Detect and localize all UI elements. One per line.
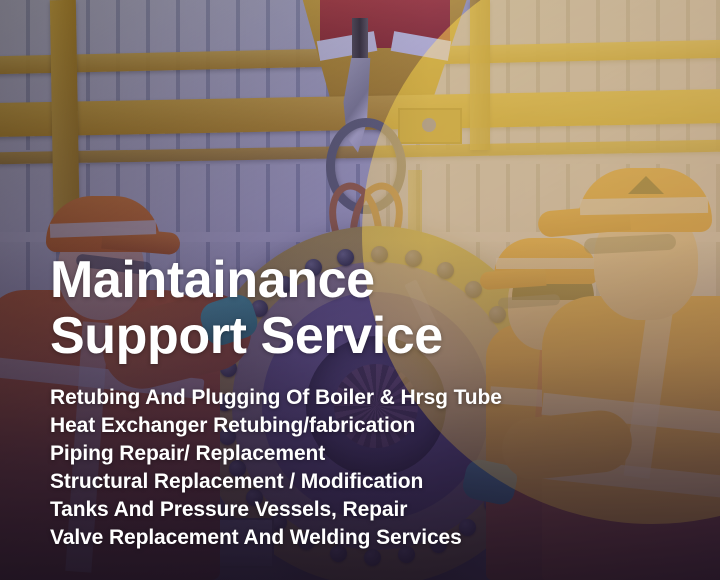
banner-content: Maintainance Support Service Retubing An… [50,252,670,552]
service-list-item: Valve Replacement And Welding Services [50,524,670,552]
service-list-item: Retubing And Plugging Of Boiler & Hrsg T… [50,384,670,412]
service-list-item: Tanks And Pressure Vessels, Repair [50,496,670,524]
headline-line-2: Support Service [50,308,670,364]
service-list-item: Structural Replacement / Modification [50,468,670,496]
service-list-item: Piping Repair/ Replacement [50,440,670,468]
maintenance-service-banner: Maintainance Support Service Retubing An… [0,0,720,580]
headline-line-1: Maintainance [50,252,670,308]
service-list-item: Heat Exchanger Retubing/fabrication [50,412,670,440]
page-title: Maintainance Support Service [50,252,670,364]
service-list: Retubing And Plugging Of Boiler & Hrsg T… [50,384,670,552]
